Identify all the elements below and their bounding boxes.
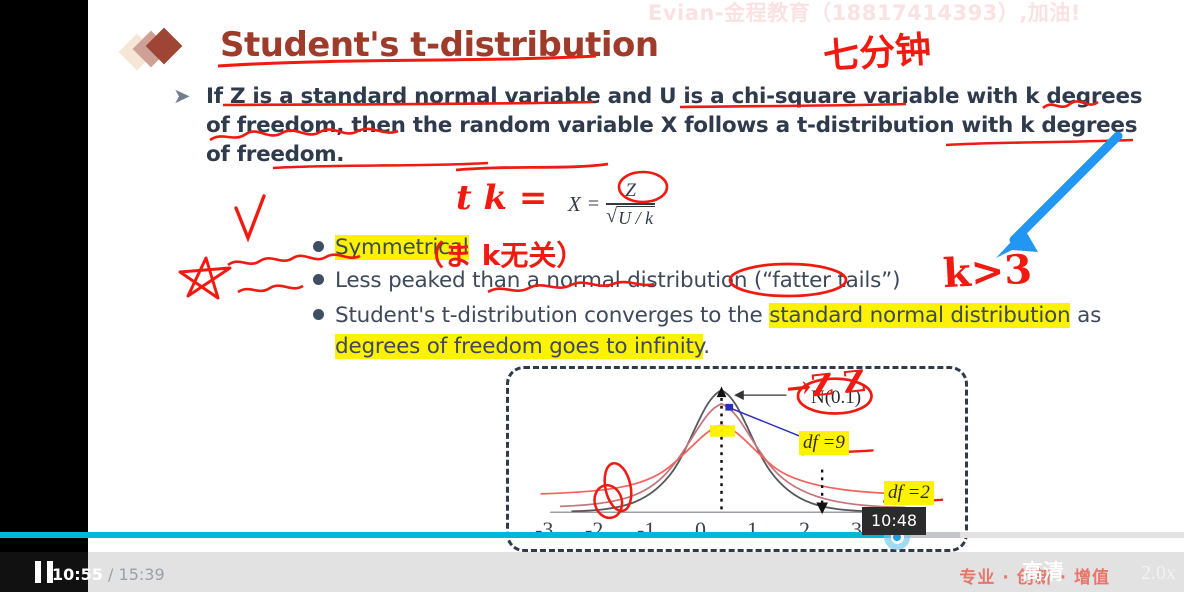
hover-time-tooltip: 10:48 (862, 507, 926, 535)
chart-tick-3: 3 (851, 517, 862, 543)
chart-label-df2: df =2 (884, 481, 934, 505)
bullet-dot-icon (313, 274, 324, 285)
slide-paragraph: If Z is a standard normal variable and U… (206, 82, 1166, 169)
chart-tick--2: -2 (585, 517, 603, 543)
handwritten-tk-equals: t k = (456, 178, 547, 218)
formula-lhs: X (568, 192, 581, 217)
progress-bar-fill (0, 532, 897, 538)
bullet-3-post: as (1070, 303, 1101, 328)
formula-numerator: Z (613, 180, 648, 203)
page-title: Student's t-distribution (220, 25, 659, 65)
progress-bar-remainder (960, 532, 1184, 538)
curve-df9 (560, 404, 905, 508)
chart-label-df9: df =9 (799, 431, 849, 455)
highlight-blob-chart (710, 425, 735, 437)
leader-marker-df9 (725, 404, 733, 411)
total-time: 15:39 (119, 565, 165, 584)
playback-speed-button[interactable]: 2.0x (1141, 562, 1176, 585)
handwritten-minutes: 七分钟 (821, 20, 932, 79)
video-player-page: Evian-金程教育（18817414393）,加油! Student's t-… (0, 0, 1184, 592)
bullet-dot-icon (313, 309, 324, 320)
time-separator: / (108, 565, 113, 584)
list-item: Less peaked than a normal distribution (… (313, 265, 900, 296)
bullet-dot-icon (313, 241, 324, 252)
handwritten-k-relation: k>3 (942, 246, 1033, 298)
chart-tick--1: -1 (637, 517, 655, 543)
bullet-3-pre: Student's t-distribution converges to th… (335, 303, 769, 328)
formula-block: X = Z √ U / k (568, 180, 655, 229)
formula-fraction: Z √ U / k (606, 180, 655, 229)
letterbox-left (0, 0, 88, 552)
list-item: Student's t-distribution converges to th… (313, 300, 1184, 362)
chart-tick-2: 2 (799, 517, 810, 543)
formula-denominator-wrap: √ U / k (606, 205, 655, 229)
pause-icon (35, 561, 53, 583)
presentation-slide: Evian-金程教育（18817414393）,加油! Student's t-… (88, 0, 1184, 552)
arrow-bullet-icon: ➤ (173, 84, 191, 109)
highlight-dof-infinity: degrees of freedom goes to infinity (335, 334, 703, 359)
chart-tick-0: 0 (695, 517, 706, 543)
quality-badge[interactable]: 高清 (1022, 556, 1064, 586)
bullet-text-3: Student's t-distribution converges to th… (335, 300, 1101, 362)
curve-df2 (541, 425, 934, 495)
chart-tick--3: -3 (535, 517, 553, 543)
chart-tick-1: 1 (747, 517, 758, 543)
current-time: 10:55 (52, 565, 103, 584)
video-viewport[interactable]: Evian-金程教育（18817414393）,加油! Student's t-… (0, 0, 1184, 552)
formula-equals: = (588, 193, 599, 216)
radical-icon: √ (606, 206, 617, 229)
time-display: 10:55 / 15:39 (52, 565, 165, 584)
formula-denominator: U / k (617, 206, 655, 229)
handwritten-symmetry-note: （ま k无关） (416, 234, 584, 274)
callout-arrow-icon (734, 390, 744, 400)
bullet-4-post: . (703, 334, 710, 359)
highlight-standard-normal: standard normal distribution (769, 303, 1070, 328)
